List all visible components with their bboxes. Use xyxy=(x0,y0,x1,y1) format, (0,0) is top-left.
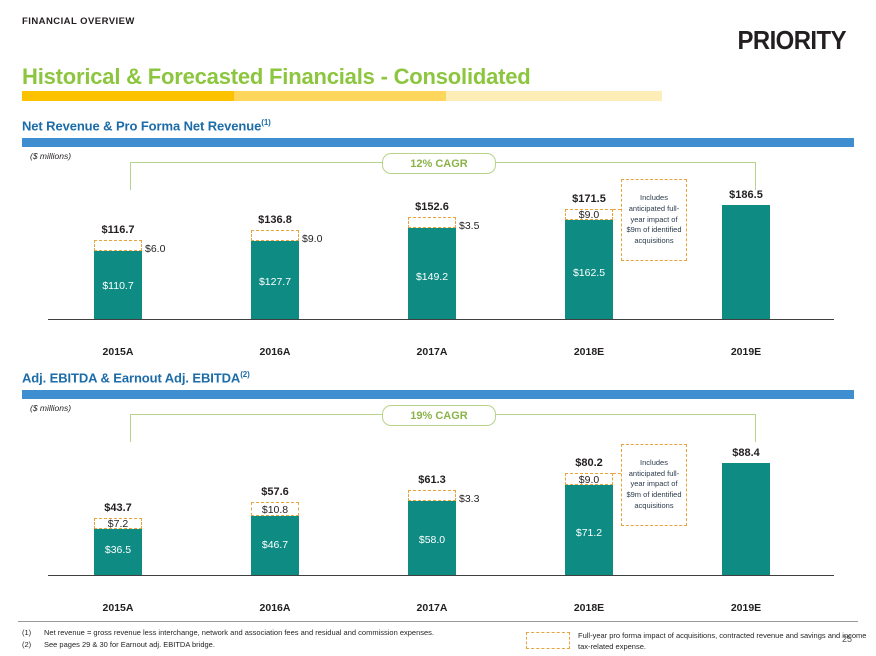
cagr-tick-right xyxy=(755,414,756,442)
total-value-label: $171.5 xyxy=(549,193,629,205)
eyebrow-label: FINANCIAL OVERVIEW xyxy=(22,16,135,27)
chart-plot-area: $36.5$7.2$43.7$46.7$10.8$57.6$58.0$3.3$6… xyxy=(0,412,876,576)
cagr-line-right xyxy=(494,162,756,163)
footnote-2: (2) See pages 29 & 30 for Earnout adj. E… xyxy=(22,640,215,651)
bar-value-label: $162.5 xyxy=(519,267,659,279)
section-footnote-marker: (1) xyxy=(261,118,270,127)
cagr-tick-right xyxy=(755,162,756,190)
bar-value-label: $58.0 xyxy=(362,534,502,546)
cagr-badge: 19% CAGR xyxy=(382,405,496,426)
bar-value-label: $36.5 xyxy=(48,544,188,556)
cagr-line-right xyxy=(494,414,756,415)
total-value-label: $136.8 xyxy=(235,214,315,226)
section-title: Net Revenue & Pro Forma Net Revenue(1) xyxy=(22,118,271,133)
cagr-tick-left xyxy=(130,162,131,190)
total-value-label: $88.4 xyxy=(706,447,786,459)
adjustment-value-label: $10.8 xyxy=(251,504,299,516)
footnote-text: See pages 29 & 30 for Earnout adj. EBITD… xyxy=(44,640,215,651)
x-axis-label-2016A: 2016A xyxy=(239,346,311,358)
bar-value-label: $46.7 xyxy=(205,539,345,551)
x-axis-label-2019E: 2019E xyxy=(710,602,782,614)
total-value-label: $152.6 xyxy=(392,201,472,213)
adjustment-value-label: $6.0 xyxy=(145,243,165,255)
total-value-label: $57.6 xyxy=(235,486,315,498)
section-footnote-marker: (2) xyxy=(240,370,249,379)
x-axis-label-2018E: 2018E xyxy=(553,602,625,614)
section-title-text: Adj. EBITDA & Earnout Adj. EBITDA xyxy=(22,370,240,385)
adjustment-value-label: $9.0 xyxy=(565,474,613,486)
bar-value-label: $149.2 xyxy=(362,271,502,283)
priority-logo: PRIORITY xyxy=(737,25,846,56)
legend-text: Full-year pro forma impact of acquisitio… xyxy=(578,631,866,651)
bar-group: $58.0$3.3$61.3 xyxy=(362,411,502,575)
section-banner-bar xyxy=(22,138,854,147)
x-axis-label-2019E: 2019E xyxy=(710,346,782,358)
bar-value-label: $110.7 xyxy=(48,280,188,292)
adjustment-value-label: $3.3 xyxy=(459,493,479,505)
section-banner-bar xyxy=(22,390,854,399)
x-axis-label-2018E: 2018E xyxy=(553,346,625,358)
bar-group: $149.2$3.5$152.6 xyxy=(362,159,502,319)
x-axis-label-2017A: 2017A xyxy=(396,346,468,358)
acquisition-callout: Includes anticipated full-year impact of… xyxy=(621,444,687,526)
x-axis-label-2015A: 2015A xyxy=(82,346,154,358)
page-title: Historical & Forecasted Financials - Con… xyxy=(22,64,531,90)
total-value-label: $116.7 xyxy=(78,224,158,236)
adjustment-value-label: $3.5 xyxy=(459,220,479,232)
bar-group: $186.5 xyxy=(676,159,816,319)
footnote-1: (1) Net revenue = gross revenue less int… xyxy=(22,628,434,639)
pro-forma-adjustment-cap xyxy=(94,240,142,251)
bar-value-label: $127.7 xyxy=(205,276,345,288)
pro-forma-adjustment-cap xyxy=(408,217,456,228)
bar-group: $88.4 xyxy=(676,411,816,575)
bar-2019E xyxy=(722,463,770,575)
cagr-line-left xyxy=(130,162,382,163)
rule-segment-2 xyxy=(234,91,446,101)
adjustment-value-label: $9.0 xyxy=(302,233,322,245)
rule-segment-1 xyxy=(22,91,234,101)
footnote-number: (1) xyxy=(22,628,40,639)
footnote-number: (2) xyxy=(22,640,40,651)
title-underline-rule xyxy=(22,91,662,101)
bar-group: $110.7$6.0$116.7 xyxy=(48,159,188,319)
adjustment-value-label: $7.2 xyxy=(94,518,142,530)
total-value-label: $61.3 xyxy=(392,474,472,486)
footnote-text: Net revenue = gross revenue less interch… xyxy=(44,628,434,639)
page-number: 25 xyxy=(842,634,852,644)
adjustment-value-label: $9.0 xyxy=(565,209,613,221)
slide: FINANCIAL OVERVIEW PRIORITY Historical &… xyxy=(0,0,876,656)
bar-2019E xyxy=(722,205,770,319)
chart-plot-area: $110.7$6.0$116.7$127.7$9.0$136.8$149.2$3… xyxy=(0,160,876,320)
section-title: Adj. EBITDA & Earnout Adj. EBITDA(2) xyxy=(22,370,250,385)
cagr-tick-left xyxy=(130,414,131,442)
dashed-box-icon xyxy=(526,632,570,649)
acquisition-callout: Includes anticipated full-year impact of… xyxy=(621,179,687,261)
cagr-badge: 12% CAGR xyxy=(382,153,496,174)
legend: Full-year pro forma impact of acquisitio… xyxy=(578,630,876,653)
x-axis-label-2016A: 2016A xyxy=(239,602,311,614)
cagr-line-left xyxy=(130,414,382,415)
pro-forma-adjustment-cap xyxy=(408,490,456,501)
total-value-label: $43.7 xyxy=(78,502,158,514)
section-title-text: Net Revenue & Pro Forma Net Revenue xyxy=(22,118,261,133)
footer-divider xyxy=(18,621,858,622)
x-axis-label-2017A: 2017A xyxy=(396,602,468,614)
total-value-label: $186.5 xyxy=(706,189,786,201)
bar-group: $36.5$7.2$43.7 xyxy=(48,411,188,575)
total-value-label: $80.2 xyxy=(549,457,629,469)
x-axis-label-2015A: 2015A xyxy=(82,602,154,614)
rule-segment-3 xyxy=(446,91,662,101)
bar-group: $127.7$9.0$136.8 xyxy=(205,159,345,319)
pro-forma-adjustment-cap xyxy=(251,230,299,241)
bar-group: $46.7$10.8$57.6 xyxy=(205,411,345,575)
bar-value-label: $71.2 xyxy=(519,527,659,539)
